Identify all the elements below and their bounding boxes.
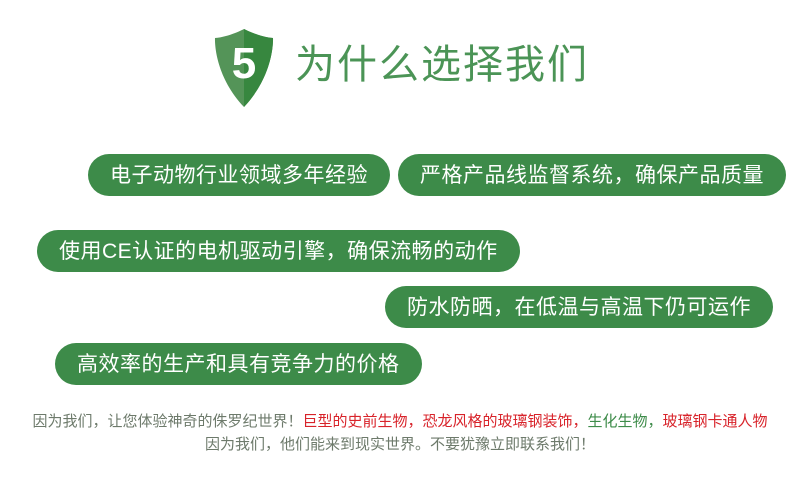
footer-line1-highlight-4: 玻璃钢卡通人物 bbox=[663, 413, 768, 430]
feature-list: 电子动物行业领域多年经验 严格产品线监督系统，确保产品质量 使用CE认证的电机驱… bbox=[0, 140, 800, 400]
badge-number: 5 bbox=[211, 28, 277, 108]
footer-line1-highlight-1: 巨型的史前生物， bbox=[302, 413, 422, 430]
footer-line-2: 因为我们，他们能来到现实世界。不要犹豫立即联系我们！ bbox=[0, 433, 800, 456]
page-header: 5 为什么选择我们 bbox=[0, 22, 800, 114]
footer-paragraph: 因为我们，让您体验神奇的侏罗纪世界！巨型的史前生物，恐龙风格的玻璃钢装饰，生化生… bbox=[0, 410, 800, 456]
footer-line1-intro: 因为我们，让您体验神奇的侏罗纪世界！ bbox=[32, 413, 302, 430]
feature-pill-efficient-price: 高效率的生产和具有竞争力的价格 bbox=[55, 343, 422, 385]
footer-line1-highlight-2: 恐龙风格的玻璃钢装饰， bbox=[422, 413, 587, 430]
feature-pill-quality-control: 严格产品线监督系统，确保产品质量 bbox=[398, 154, 786, 196]
footer-line1-highlight-3: 生化生物， bbox=[588, 413, 663, 430]
feature-pill-ce-motor: 使用CE认证的电机驱动引擎，确保流畅的动作 bbox=[37, 230, 520, 272]
feature-pill-weatherproof: 防水防晒，在低温与高温下仍可运作 bbox=[385, 286, 773, 328]
promo-page: 5 为什么选择我们 电子动物行业领域多年经验 严格产品线监督系统，确保产品质量 … bbox=[0, 0, 800, 485]
shield-icon: 5 bbox=[211, 28, 277, 108]
page-title: 为什么选择我们 bbox=[295, 45, 589, 91]
footer-line2-text: 因为我们，他们能来到现实世界。不要犹豫立即联系我们！ bbox=[205, 436, 595, 453]
footer-line-1: 因为我们，让您体验神奇的侏罗纪世界！巨型的史前生物，恐龙风格的玻璃钢装饰，生化生… bbox=[0, 410, 800, 433]
feature-pill-experience: 电子动物行业领域多年经验 bbox=[88, 154, 390, 196]
